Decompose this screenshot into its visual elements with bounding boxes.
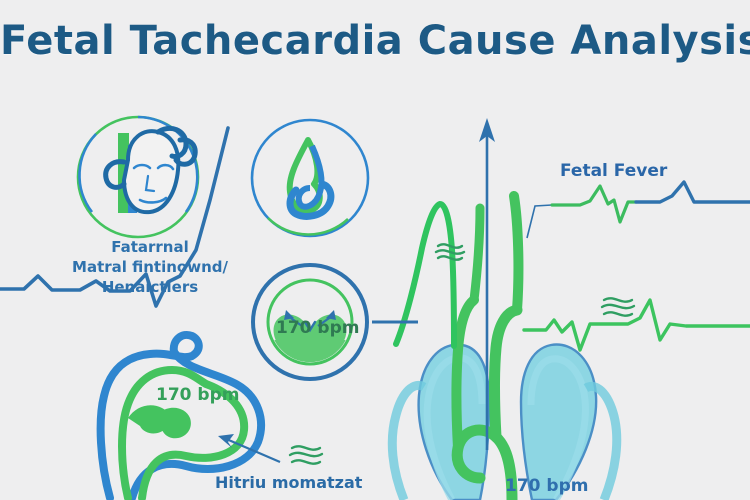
wave-squiggle-icon: [290, 446, 322, 463]
maternal-caption: Fatarrnal Matral fintinownd/ Henaictlers: [30, 238, 270, 297]
wave-squiggle-icon: [436, 244, 464, 259]
fever-flame-icon: [252, 120, 368, 236]
maternal-caption-line2: Matral fintinownd/: [30, 258, 270, 278]
ecg-trace-fetal-fever: [527, 182, 750, 238]
wave-squiggle-icon: [602, 298, 634, 315]
bpm-lung-value: 170 bpm: [505, 476, 588, 496]
bpm-organ-value: 170 bpm: [156, 385, 239, 405]
ecg-trace-green-lower: [524, 300, 750, 350]
maternal-face-icon: [78, 117, 198, 237]
bpm-gauge-value: 170 bpm: [276, 318, 359, 338]
ecg-spike-green: [396, 204, 454, 346]
maternal-caption-line1: Fatarrnal: [30, 238, 270, 258]
maternal-caption-line3: Henaictlers: [30, 278, 270, 298]
infographic-canvas: Fetal Tachecardia Cause Analysis: [0, 0, 750, 500]
hitriu-caption: Hitriu momatzat: [215, 472, 415, 493]
fetal-fever-label: Fetal Fever: [560, 160, 667, 182]
